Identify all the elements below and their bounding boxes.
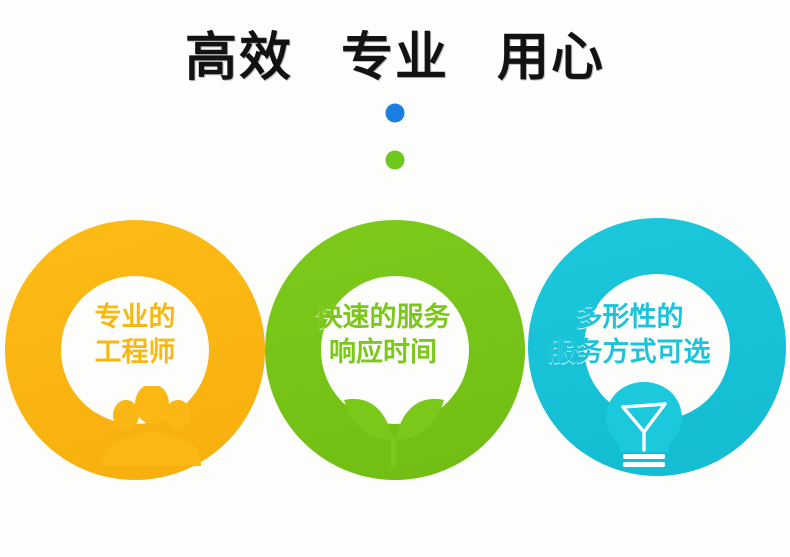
people-group-icon bbox=[92, 386, 212, 466]
venn-rings-graphic bbox=[0, 0, 790, 557]
ring-label-line-1: 多形性的 bbox=[527, 300, 732, 335]
ring-label-line-2: 服务方式可选 bbox=[527, 335, 732, 370]
ring-label-flexible-service-modes: 多形性的 服务方式可选 bbox=[527, 300, 732, 370]
sprout-icon bbox=[330, 378, 458, 468]
ring-label-line-2: 工程师 bbox=[50, 335, 220, 370]
ring-label-line-2: 响应时间 bbox=[288, 335, 478, 370]
infographic-canvas: 高效专业用心 bbox=[0, 0, 790, 557]
overlap-green-cyan bbox=[0, 0, 790, 557]
ring-label-fast-service-response: 快速的服务 响应时间 bbox=[288, 300, 478, 370]
ring-label-line-1: 快速的服务 bbox=[288, 300, 478, 335]
lightbulb-icon bbox=[592, 380, 696, 468]
ring-label-professional-engineers: 专业的 工程师 bbox=[50, 300, 220, 370]
ring-label-line-1: 专业的 bbox=[50, 300, 220, 335]
